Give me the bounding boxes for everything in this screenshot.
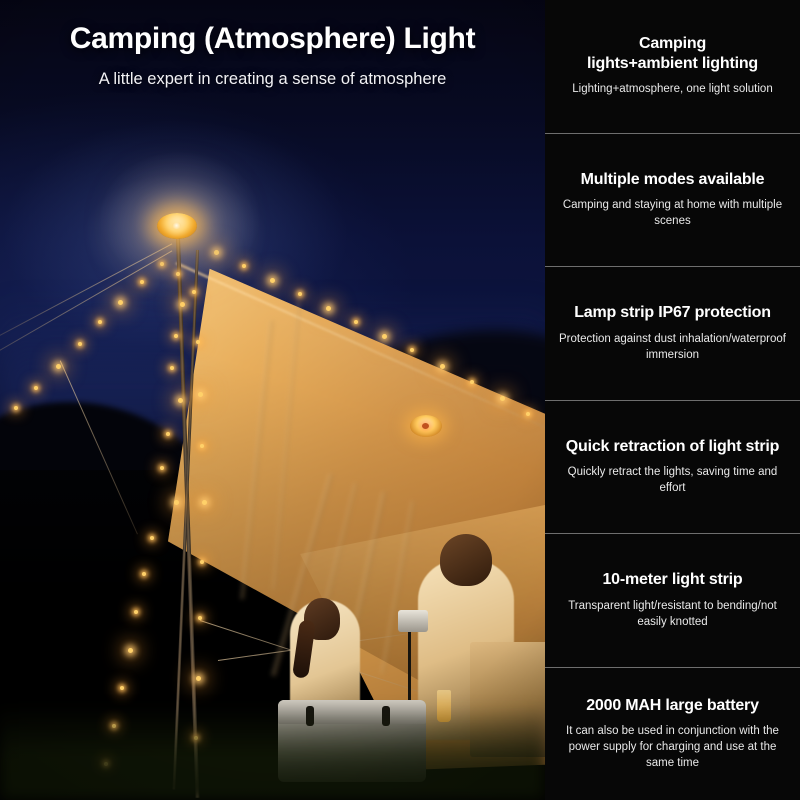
string-light-bulb: [198, 392, 203, 397]
string-light-bulb: [174, 500, 179, 505]
string-light-bulb: [200, 560, 204, 564]
feature-card-2: Multiple modes available Camping and sta…: [545, 134, 800, 268]
string-light-bulb: [134, 610, 138, 614]
feature-title: Quick retraction of light strip: [566, 437, 779, 457]
string-light-bulb: [14, 406, 18, 410]
string-light-bulb: [178, 398, 183, 403]
string-light-bulb: [526, 412, 530, 416]
string-light-bulb: [500, 396, 505, 401]
grass-foreground: [0, 705, 545, 800]
string-light-bulb: [128, 648, 133, 653]
top-camping-lamp-core: [172, 222, 181, 229]
string-light-bulb: [326, 306, 331, 311]
feature-description: Camping and staying at home with multipl…: [554, 198, 791, 230]
string-light-bulb: [202, 500, 207, 505]
feature-title: 10-meter light strip: [602, 570, 742, 590]
string-light-bulb: [56, 364, 61, 369]
string-light-bulb: [440, 364, 445, 369]
page-title: Camping (Atmosphere) Light: [0, 22, 545, 56]
string-light-bulb: [170, 366, 174, 370]
hero-text-block: Camping (Atmosphere) Light A little expe…: [0, 0, 545, 89]
person-standing-head: [440, 534, 492, 586]
string-light-bulb: [118, 300, 123, 305]
string-light-bulb: [470, 380, 474, 384]
string-light-bulb: [410, 348, 414, 352]
feature-title: Lamp strip IP67 protection: [574, 303, 771, 323]
feature-card-6: 2000 MAH large battery It can also be us…: [545, 668, 800, 800]
string-light-bulb: [382, 334, 387, 339]
string-light-bulb: [200, 444, 204, 448]
feature-card-5: 10-meter light strip Transparent light/r…: [545, 534, 800, 668]
string-light-bulb: [150, 536, 154, 540]
string-light-bulb: [354, 320, 358, 324]
feature-card-1: Camping lights+ambient lighting Lighting…: [545, 0, 800, 134]
string-light-bulb: [174, 334, 178, 338]
feature-description: It can also be used in conjunction with …: [554, 724, 791, 772]
mid-camping-lamp-core: [422, 423, 429, 429]
string-light-bulb: [242, 264, 246, 268]
string-light-bulb: [298, 292, 302, 296]
feature-list: Camping lights+ambient lighting Lighting…: [545, 0, 800, 800]
feature-card-3: Lamp strip IP67 protection Protection ag…: [545, 267, 800, 401]
string-light-bulb: [166, 432, 170, 436]
hero-photo: Camping (Atmosphere) Light A little expe…: [0, 0, 545, 800]
string-light-bulb: [196, 340, 200, 344]
string-light-bulb: [160, 466, 164, 470]
feature-description: Protection against dust inhalation/water…: [554, 332, 791, 364]
string-light-bulb: [120, 686, 124, 690]
product-feature-poster: Camping (Atmosphere) Light A little expe…: [0, 0, 800, 800]
string-light-bulb: [198, 616, 202, 620]
feature-card-4: Quick retraction of light strip Quickly …: [545, 401, 800, 535]
feature-description: Lighting+atmosphere, one light solution: [572, 82, 772, 98]
string-light-bulb: [142, 572, 146, 576]
feature-title: Camping lights+ambient lighting: [587, 34, 758, 73]
string-light-bulb: [34, 386, 38, 390]
string-light-bulb: [270, 278, 275, 283]
feature-title-line-1: Camping: [639, 35, 706, 52]
string-light-bulb: [192, 290, 196, 294]
string-light-bulb: [180, 302, 185, 307]
portable-light-box: [398, 610, 428, 632]
page-subtitle: A little expert in creating a sense of a…: [0, 70, 545, 89]
string-light-bulb: [98, 320, 102, 324]
feature-title: Multiple modes available: [581, 170, 765, 190]
feature-title-line-2: lights+ambient lighting: [587, 55, 758, 72]
string-light-bulb: [78, 342, 82, 346]
feature-description: Quickly retract the lights, saving time …: [554, 465, 791, 497]
feature-title: 2000 MAH large battery: [586, 696, 759, 716]
string-light-bulb: [196, 676, 201, 681]
string-light-bulb: [140, 280, 144, 284]
feature-description: Transparent light/resistant to bending/n…: [554, 599, 791, 631]
